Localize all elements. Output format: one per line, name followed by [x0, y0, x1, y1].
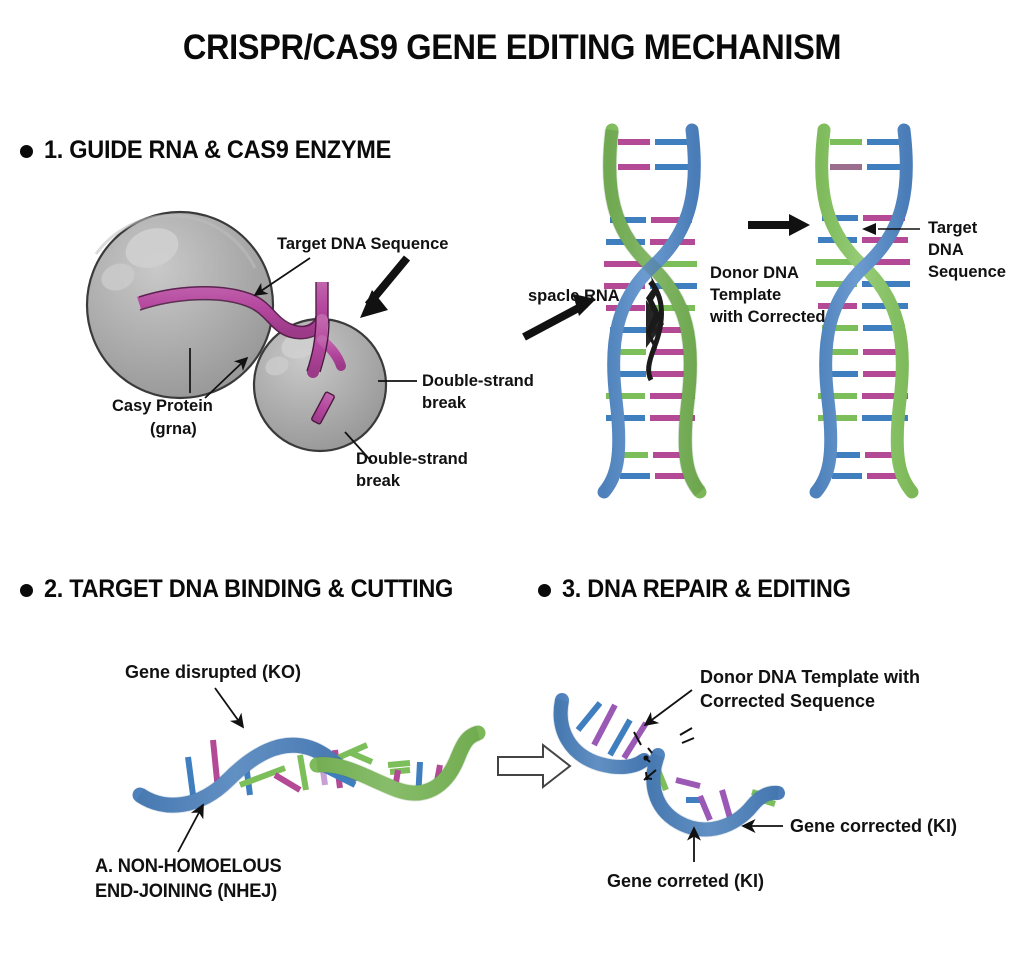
- dna-double-helix-after-edit: [816, 130, 912, 492]
- dna-double-helix-before-edit: [604, 130, 700, 492]
- hollow-transition-arrow: [498, 745, 570, 787]
- label-double-strand-break-right-line2: break: [422, 394, 466, 413]
- label-nhej-line1: A. NON-HOMOELOUS: [95, 856, 281, 878]
- label-target-dna-sequence: Target DNA Sequence: [277, 235, 448, 254]
- nhej-dna-fragment-green: [315, 733, 478, 800]
- arrow-gene-disrupted: [215, 688, 243, 727]
- label-spacle-rna: spacle RNA: [528, 287, 620, 306]
- label-nhej-line2: END-JOINING (NHEJ): [95, 881, 277, 903]
- hdr-dna-fragment-upper: [561, 700, 646, 767]
- label-donor-dna-line3: with Corrected: [710, 308, 826, 327]
- arrow-to-helix: [524, 304, 586, 337]
- label-gene-disrupted: Gene disrupted (KO): [125, 662, 301, 683]
- label-casy-protein-line1: Casy Protein: [112, 397, 213, 416]
- graphics-layer: [0, 0, 1024, 955]
- label-gene-corrected-right: Gene corrected (KI): [790, 816, 957, 837]
- diagram-canvas: CRISPR/CAS9 GENE EDITING MECHANISM 1. GU…: [0, 0, 1024, 955]
- label-donor-dna-line1: Donor DNA: [710, 264, 799, 283]
- hdr-dna-fragment-lower: [653, 755, 778, 829]
- label-donor-template-line2: Corrected Sequence: [700, 691, 875, 712]
- dna-cut-marker: [646, 276, 664, 380]
- arrow-helix-transition: [748, 214, 810, 236]
- label-double-strand-break-bottom-line1: Double-strand: [356, 450, 468, 469]
- label-double-strand-break-bottom-line2: break: [356, 472, 400, 491]
- label-target-dna-right-line3: Sequence: [928, 263, 1006, 282]
- label-casy-protein-line2: (grna): [150, 420, 197, 439]
- label-double-strand-break-right-line1: Double-strand: [422, 372, 534, 391]
- label-target-dna-right-line1: Target: [928, 219, 977, 238]
- arrow-donor-template: [645, 690, 692, 725]
- label-donor-dna-line2: Template: [710, 286, 781, 305]
- label-donor-template-line1: Donor DNA Template with: [700, 667, 920, 688]
- label-target-dna-right-line2: DNA: [928, 241, 964, 260]
- label-gene-corrected-bottom: Gene correted (KI): [607, 871, 764, 892]
